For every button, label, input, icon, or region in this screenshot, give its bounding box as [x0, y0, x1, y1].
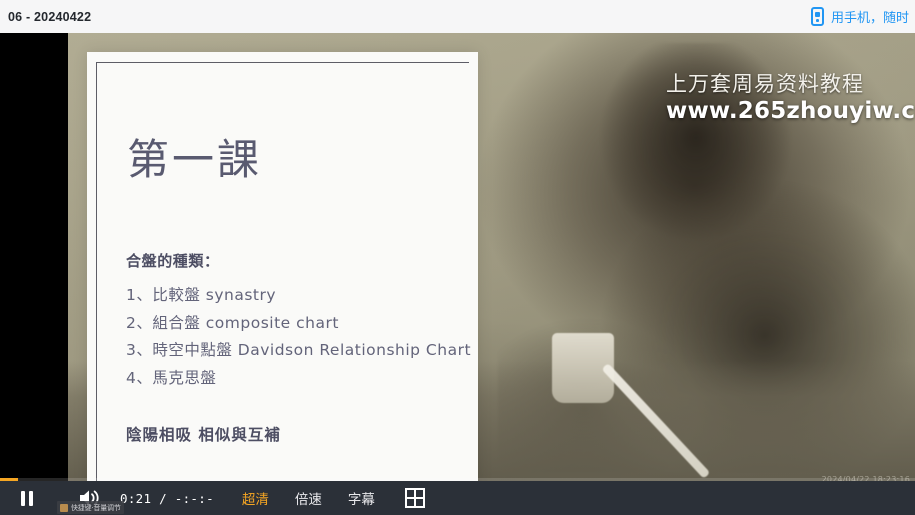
progress-bar-fill — [0, 478, 18, 481]
letterbox-left — [0, 33, 68, 481]
presentation-slide: 第一課 合盤的種類： 1、比較盤 synastry 2、組合盤 composit… — [87, 52, 478, 515]
pause-icon — [21, 491, 25, 506]
tooltip-badge-icon — [60, 504, 68, 512]
slide-list-item: 1、比較盤 synastry — [126, 282, 464, 310]
player-control-bar: 0:21 / -:-:- 超清 倍速 字幕 快捷键·音量调节 — [0, 481, 915, 515]
page-title: 06 - 20240422 — [8, 10, 91, 24]
slide-list-item: 4、馬克思盤 — [126, 365, 464, 393]
volume-hint-tooltip: 快捷键·音量调节 — [57, 501, 124, 514]
pause-button[interactable] — [14, 485, 40, 511]
pause-icon — [29, 491, 33, 506]
subtitle-selector[interactable]: 字幕 — [348, 488, 375, 508]
video-player-stage[interactable]: 上万套周易资料教程 www.265zhouyiw.com 第一課 合盤的種類： … — [0, 33, 915, 515]
progress-bar-track[interactable] — [0, 478, 915, 481]
slide-title: 第一課 — [127, 139, 262, 181]
slide-content-list: 合盤的種類： 1、比較盤 synastry 2、組合盤 composite ch… — [126, 250, 464, 392]
header-promo[interactable]: 用手机，随时 — [811, 7, 909, 26]
quality-selector[interactable]: 超清 — [242, 488, 269, 508]
slide-footnote: 陰陽相吸 相似與互補 — [126, 423, 281, 445]
slide-list-item: 2、組合盤 composite chart — [126, 310, 464, 338]
time-display: 0:21 / -:-:- — [120, 491, 214, 506]
fullscreen-icon — [414, 497, 425, 508]
slide-list-heading: 合盤的種類： — [126, 250, 464, 271]
tooltip-label: 快捷键·音量调节 — [71, 503, 121, 513]
window-header-bar: 06 - 20240422 用手机，随时 — [0, 0, 915, 33]
slide-list-item: 3、時空中點盤 Davidson Relationship Chart — [126, 337, 464, 365]
mobile-phone-icon — [811, 7, 824, 26]
fullscreen-button[interactable] — [405, 488, 425, 508]
playback-speed-selector[interactable]: 倍速 — [295, 488, 322, 508]
header-promo-label: 用手机，随时 — [831, 7, 909, 26]
